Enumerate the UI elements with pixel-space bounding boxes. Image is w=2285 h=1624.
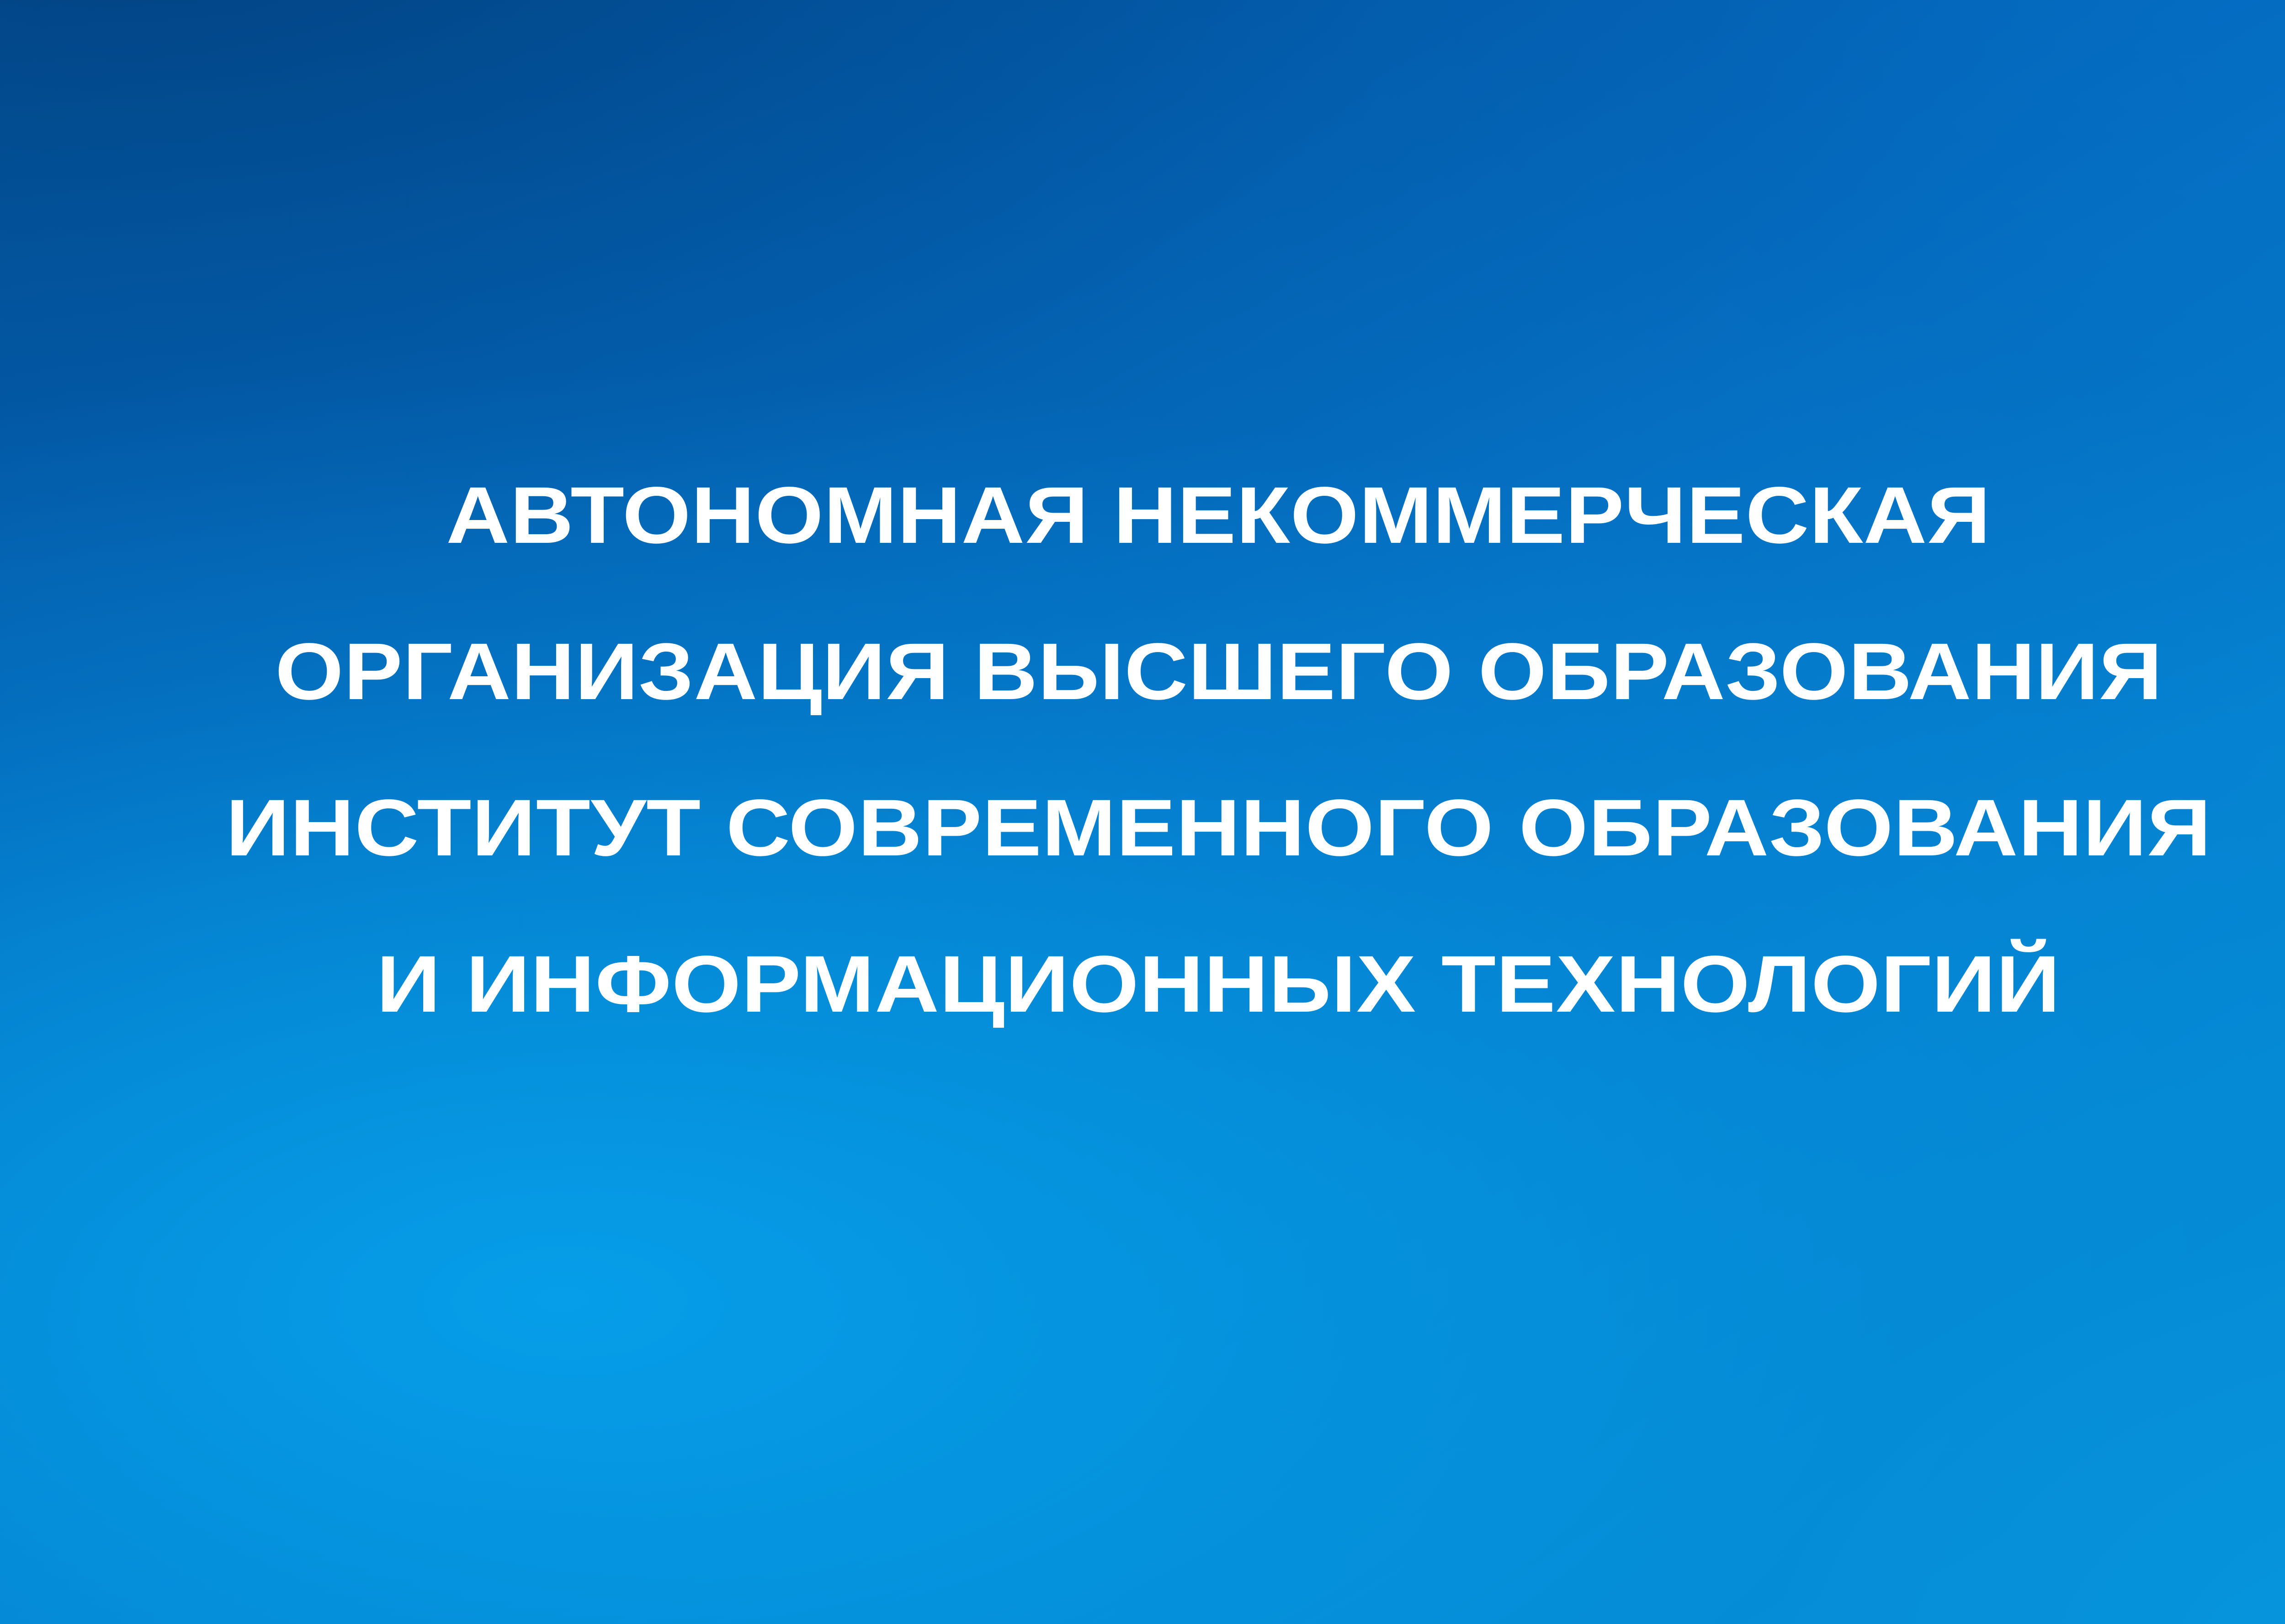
title-line-wrapper: И ИНФОРМАЦИОННЫХ ТЕХНОЛОГИЙ (0, 919, 2285, 1075)
title-line-2: ОРГАНИЗАЦИЯ ВЫСШЕГО ОБРАЗОВАНИЯ (275, 606, 2163, 738)
title-line-wrapper: ИНСТИТУТ СОВРЕМЕННОГО ОБРАЗОВАНИЯ (0, 763, 2285, 919)
title-slide: АВТОНОМНАЯ НЕКОММЕРЧЕСКАЯ ОРГАНИЗАЦИЯ ВЫ… (0, 0, 2285, 1624)
title-line-3: ИНСТИТУТ СОВРЕМЕННОГО ОБРАЗОВАНИЯ (226, 763, 2211, 894)
title-line-1: АВТОНОМНАЯ НЕКОММЕРЧЕСКАЯ (446, 450, 1991, 581)
title-line-wrapper: ОРГАНИЗАЦИЯ ВЫСШЕГО ОБРАЗОВАНИЯ (0, 606, 2285, 763)
title-line-wrapper: АВТОНОМНАЯ НЕКОММЕРЧЕСКАЯ (0, 450, 2285, 606)
slide-title: АВТОНОМНАЯ НЕКОММЕРЧЕСКАЯ ОРГАНИЗАЦИЯ ВЫ… (0, 450, 2285, 1075)
title-line-4: И ИНФОРМАЦИОННЫХ ТЕХНОЛОГИЙ (377, 919, 2061, 1050)
